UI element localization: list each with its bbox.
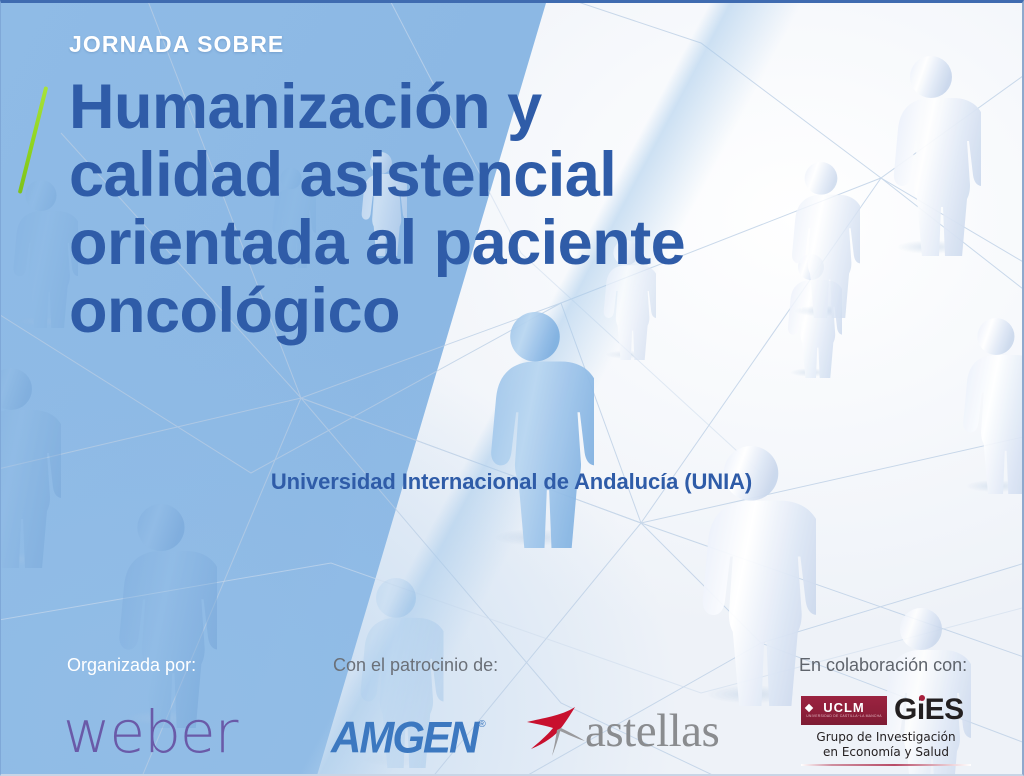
person-figure: [105, 498, 217, 728]
weber-wordmark: weber: [63, 703, 237, 761]
gies-divider: [801, 764, 971, 766]
sponsored-by-label: Con el patrocinio de:: [333, 655, 498, 676]
weber-logo: weber: [63, 703, 237, 761]
presentation-slide: JORNADA SOBRE Humanización y calidad asi…: [0, 0, 1024, 776]
astellas-star-icon: [525, 703, 591, 759]
person-figure: [4, 176, 78, 328]
collaboration-label: En colaboración con:: [799, 655, 967, 676]
person-figure: [1, 363, 61, 568]
gies-descriptor: Grupo de Investigación en Economía y Sal…: [801, 730, 971, 760]
gies-acronym-text: GiES: [894, 693, 964, 726]
title-line-2: calidad asistencial: [69, 141, 869, 209]
organized-by-label: Organizada por:: [67, 655, 196, 676]
uclm-logo: UCLM UNIVERSIDAD DE CASTILLA~LA MANCHA: [801, 696, 887, 725]
gies-i-dot-icon: [919, 695, 925, 701]
uclm-subtitle: UNIVERSIDAD DE CASTILLA~LA MANCHA: [806, 714, 882, 719]
slide-subtitle: Universidad Internacional de Andalucía (…: [1, 469, 1022, 495]
amgen-wordmark: AMGEN: [331, 716, 477, 760]
amgen-trademark-icon: ®: [478, 719, 485, 730]
astellas-wordmark: astellas: [585, 708, 719, 755]
gies-acronym: GiES: [894, 695, 964, 725]
uclm-diamond-icon: [805, 703, 813, 711]
slide-title: Humanización y calidad asistencial orien…: [69, 73, 869, 345]
gies-logo-top-row: UCLM UNIVERSIDAD DE CASTILLA~LA MANCHA G…: [801, 695, 971, 725]
gies-descriptor-line-2: en Economía y Salud: [801, 745, 971, 760]
title-line-3: orientada al paciente: [69, 209, 869, 277]
title-line-4: oncológico: [69, 277, 869, 345]
astellas-logo: astellas: [525, 703, 719, 759]
gies-logo: UCLM UNIVERSIDAD DE CASTILLA~LA MANCHA G…: [801, 695, 971, 766]
amgen-logo: AMGEN ®: [331, 717, 486, 759]
person-figure: [952, 314, 1022, 494]
title-line-1: Humanización y: [69, 73, 869, 141]
slide-kicker: JORNADA SOBRE: [69, 31, 284, 58]
uclm-wordmark: UCLM: [823, 701, 865, 714]
gies-descriptor-line-1: Grupo de Investigación: [801, 730, 971, 745]
person-figure: [881, 51, 981, 256]
